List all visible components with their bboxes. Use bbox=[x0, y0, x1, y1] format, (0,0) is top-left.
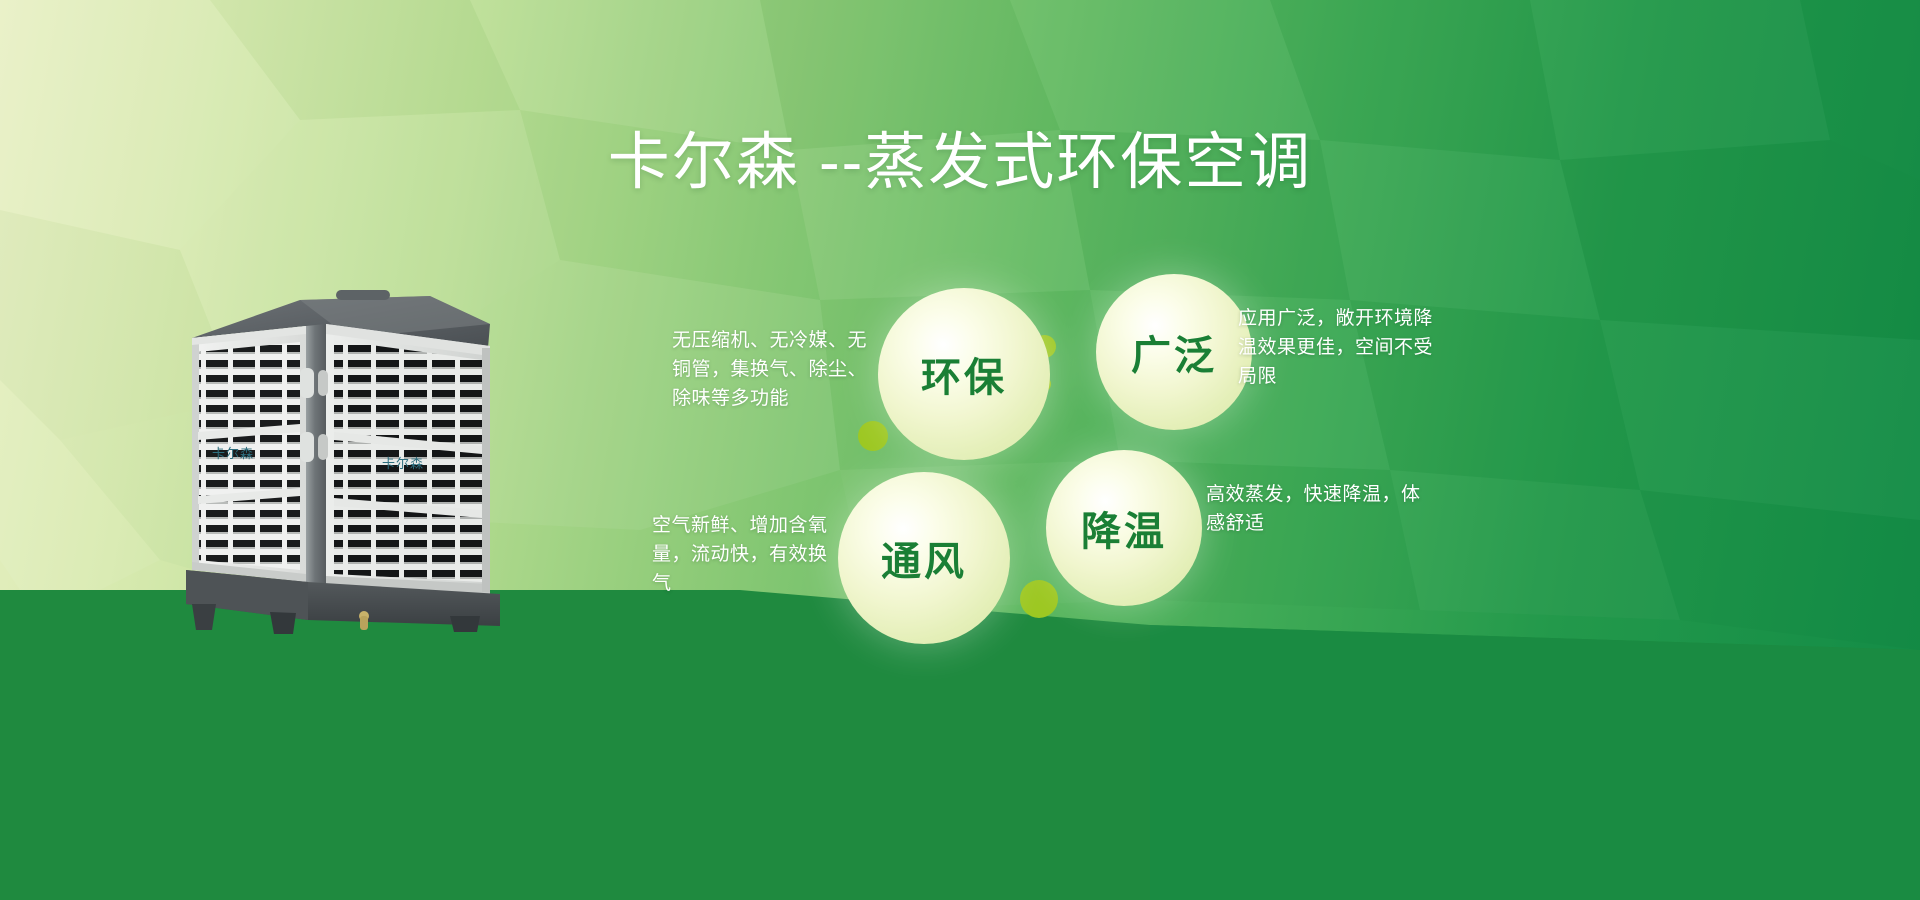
feature-bubble-jiangwen: 降温 bbox=[1046, 450, 1202, 606]
feature-bubble-label: 环保 bbox=[921, 345, 1007, 403]
feature-caption-huanbao: 无压缩机、无冷媒、无铜管，集换气、除尘、除味等多功能 bbox=[672, 327, 872, 414]
feature-bubble-label: 广泛 bbox=[1131, 323, 1217, 381]
svg-text:卡尔森: 卡尔森 bbox=[382, 456, 424, 471]
accent-dot-4 bbox=[1020, 580, 1058, 618]
feature-bubble-huanbao: 环保 bbox=[878, 288, 1050, 460]
feature-caption-guangfan: 应用广泛，敞开环境降温效果更佳，空间不受局限 bbox=[1238, 305, 1438, 392]
feature-bubble-label: 降温 bbox=[1081, 499, 1167, 557]
svg-text:卡尔森: 卡尔森 bbox=[212, 446, 254, 461]
feature-bubble-label: 通风 bbox=[881, 529, 967, 587]
accent-dot-3 bbox=[858, 421, 888, 451]
feature-caption-tongfeng: 空气新鲜、增加含氧量，流动快，有效换气 bbox=[652, 512, 842, 599]
promotional-banner: 卡尔森 --蒸发式环保空调 bbox=[0, 0, 1920, 900]
feature-bubble-guangfan: 广泛 bbox=[1096, 274, 1252, 430]
feature-bubble-tongfeng: 通风 bbox=[838, 472, 1010, 644]
page-title: 卡尔森 --蒸发式环保空调 bbox=[0, 128, 1920, 197]
product-image-evaporative-air-cooler: 卡尔森 卡尔森 bbox=[150, 282, 650, 642]
feature-caption-jiangwen: 高效蒸发，快速降温，体感舒适 bbox=[1206, 481, 1431, 539]
